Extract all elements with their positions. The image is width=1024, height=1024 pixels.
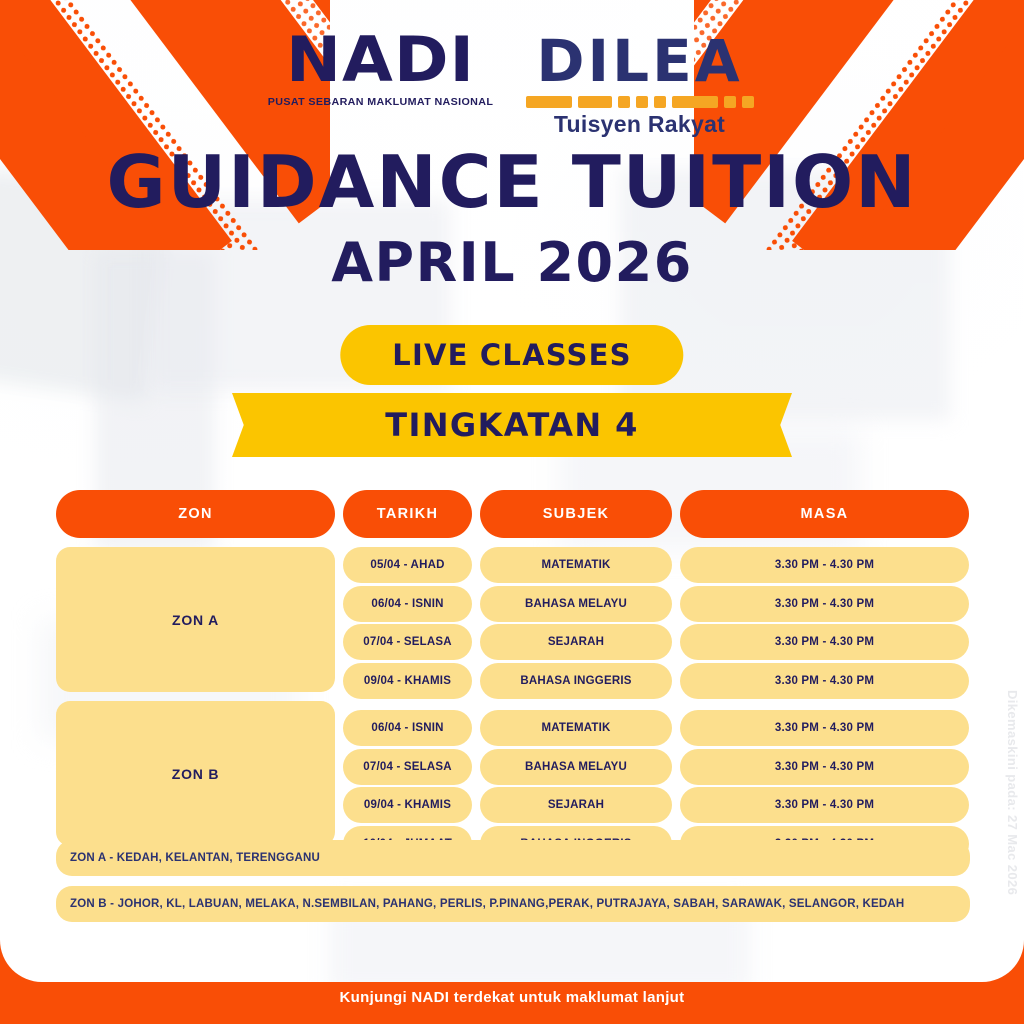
column-header-zon: ZON xyxy=(56,490,335,538)
cell-tarikh: 09/04 - KHAMIS xyxy=(343,787,472,823)
poster-root: Kunjungi NADI terdekat untuk maklumat la… xyxy=(0,0,1024,1024)
dilea-wordmark: DILEA xyxy=(526,32,754,90)
cell-tarikh: 07/04 - SELASA xyxy=(343,749,472,785)
cell-subjek: MATEMATIK xyxy=(480,547,672,583)
cell-subjek: BAHASA MELAYU xyxy=(480,586,672,622)
dilea-tagline: Tuisyen Rakyat xyxy=(526,111,754,138)
table-row: 06/04 - ISNIN MATEMATIK 3.30 PM - 4.30 P… xyxy=(343,710,970,746)
cell-tarikh: 09/04 - KHAMIS xyxy=(343,663,472,699)
table-row: 05/04 - AHAD MATEMATIK 3.30 PM - 4.30 PM xyxy=(343,547,970,583)
table-header-row: ZON TARIKH SUBJEK MASA xyxy=(56,490,970,538)
ribbon-body: TINGKATAN 4 xyxy=(270,393,754,457)
table-row: 09/04 - KHAMIS BAHASA INGGERIS 3.30 PM -… xyxy=(343,663,970,699)
nadi-wordmark: NADI xyxy=(264,30,498,91)
cell-subjek: SEJARAH xyxy=(480,787,672,823)
cell-tarikh: 06/04 - ISNIN xyxy=(343,586,472,622)
table-row: 07/04 - SELASA BAHASA MELAYU 3.30 PM - 4… xyxy=(343,749,970,785)
page-subtitle: APRIL 2026 xyxy=(0,236,1024,290)
cell-masa: 3.30 PM - 4.30 PM xyxy=(680,749,969,785)
nadi-logo: NADI PUSAT SEBARAN MAKLUMAT NASIONAL xyxy=(270,30,491,108)
table-row: 06/04 - ISNIN BAHASA MELAYU 3.30 PM - 4.… xyxy=(343,586,970,622)
cell-subjek: SEJARAH xyxy=(480,624,672,660)
schedule-rows: 05/04 - AHAD MATEMATIK 3.30 PM - 4.30 PM… xyxy=(343,547,970,864)
cell-masa: 3.30 PM - 4.30 PM xyxy=(680,624,969,660)
zone-divider xyxy=(343,701,970,710)
cell-tarikh: 05/04 - AHAD xyxy=(343,547,472,583)
schedule-table: ZON TARIKH SUBJEK MASA ZON A ZON B 05/04… xyxy=(56,490,970,864)
cell-subjek: BAHASA MELAYU xyxy=(480,749,672,785)
last-updated-text: Dikemaskini pada: 27 Mac 2026 xyxy=(1005,690,1020,895)
cell-subjek: MATEMATIK xyxy=(480,710,672,746)
table-row: 09/04 - KHAMIS SEJARAH 3.30 PM - 4.30 PM xyxy=(343,787,970,823)
column-header-subjek: SUBJEK xyxy=(480,490,672,538)
column-header-tarikh: TARIKH xyxy=(343,490,472,538)
nadi-tagline: PUSAT SEBARAN MAKLUMAT NASIONAL xyxy=(268,96,493,108)
cell-masa: 3.30 PM - 4.30 PM xyxy=(680,586,969,622)
zone-cell: ZON A xyxy=(56,547,335,692)
ribbon-tail-left xyxy=(232,393,274,457)
zone-note-a: ZON A - KEDAH, KELANTAN, TERENGGANU xyxy=(56,840,970,876)
cell-tarikh: 06/04 - ISNIN xyxy=(343,710,472,746)
logo-row: NADI PUSAT SEBARAN MAKLUMAT NASIONAL DIL… xyxy=(0,30,1024,138)
table-body: ZON A ZON B 05/04 - AHAD MATEMATIK 3.30 … xyxy=(56,547,970,864)
ribbon-label: TINGKATAN 4 xyxy=(385,406,639,444)
page-title: GUIDANCE TUITION xyxy=(0,146,1024,218)
ribbon-tail-right xyxy=(750,393,792,457)
column-header-masa: MASA xyxy=(680,490,969,538)
zone-notes: ZON A - KEDAH, KELANTAN, TERENGGANU ZON … xyxy=(56,840,970,932)
footer-text: Kunjungi NADI terdekat untuk maklumat la… xyxy=(340,989,685,1006)
tingkatan-ribbon: TINGKATAN 4 xyxy=(232,393,792,457)
cell-masa: 3.30 PM - 4.30 PM xyxy=(680,547,969,583)
cell-masa: 3.30 PM - 4.30 PM xyxy=(680,663,969,699)
cell-masa: 3.30 PM - 4.30 PM xyxy=(680,710,969,746)
zone-cell: ZON B xyxy=(56,701,335,846)
dilea-bars-icon xyxy=(526,96,754,108)
live-classes-badge: LIVE CLASSES xyxy=(340,325,683,385)
cell-tarikh: 07/04 - SELASA xyxy=(343,624,472,660)
content-card: NADI PUSAT SEBARAN MAKLUMAT NASIONAL DIL… xyxy=(0,0,1024,982)
table-row: 07/04 - SELASA SEJARAH 3.30 PM - 4.30 PM xyxy=(343,624,970,660)
cell-subjek: BAHASA INGGERIS xyxy=(480,663,672,699)
zone-note-b: ZON B - JOHOR, KL, LABUAN, MELAKA, N.SEM… xyxy=(56,886,970,922)
cell-masa: 3.30 PM - 4.30 PM xyxy=(680,787,969,823)
dilea-logo: DILEA Tuisyen Rakyat xyxy=(526,30,754,138)
zone-column: ZON A ZON B xyxy=(56,547,335,864)
